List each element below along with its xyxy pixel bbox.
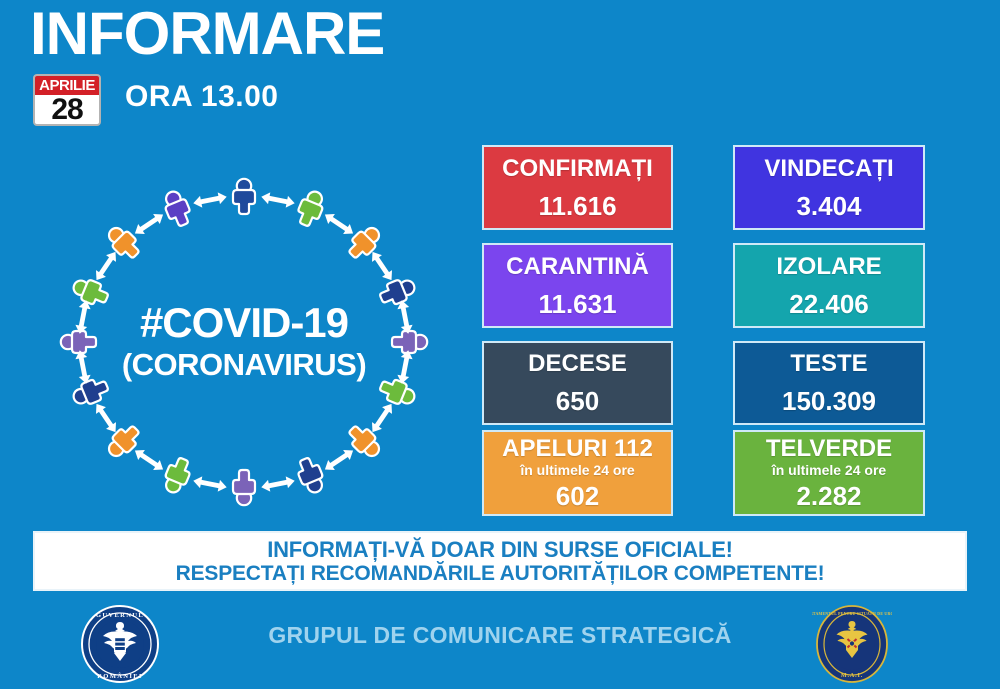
stat-card-carantina: CARANTINĂ 11.631 xyxy=(482,243,673,328)
stat-label: TELVERDE xyxy=(766,435,892,463)
stat-label: IZOLARE xyxy=(776,253,881,281)
stat-card-decese: DECESE 650 xyxy=(482,341,673,425)
stat-value: 11.631 xyxy=(538,289,616,319)
advisory-line-1: INFORMAȚI-VĂ DOAR DIN SURSE OFICIALE! xyxy=(267,537,733,562)
stat-label: VINDECAȚI xyxy=(764,155,893,183)
calendar-day: 28 xyxy=(35,95,99,124)
stat-label: TESTE xyxy=(790,350,867,378)
stat-value: 150.309 xyxy=(782,386,876,416)
stat-card-izolare: IZOLARE 22.406 xyxy=(733,243,925,328)
advisory-line-2: RESPECTAȚI RECOMANDĂRILE AUTORITĂȚILOR C… xyxy=(176,562,825,586)
stat-card-vindecati: VINDECAȚI 3.404 xyxy=(733,145,925,230)
stat-label: DECESE xyxy=(528,350,627,378)
stat-card-teste: TESTE 150.309 xyxy=(733,341,925,425)
stat-value: 650 xyxy=(556,386,599,416)
covid-main-label: #COVID-19 xyxy=(24,300,464,346)
stat-label: CARANTINĂ xyxy=(506,253,649,281)
seal-text-bottom: ROMÂNIEI xyxy=(97,672,143,680)
report-time: ORA 13.00 xyxy=(125,80,278,114)
stat-sublabel: în ultimele 24 ore xyxy=(520,462,634,478)
stat-value: 602 xyxy=(556,481,599,511)
stat-value: 3.404 xyxy=(796,191,861,221)
page-title: INFORMARE xyxy=(30,2,384,65)
stat-value: 11.616 xyxy=(538,191,616,221)
stat-card-apeluri-112: APELURI 112 în ultimele 24 ore 602 xyxy=(482,430,673,516)
stat-label: CONFIRMAȚI xyxy=(502,155,653,183)
stat-card-telverde: TELVERDE în ultimele 24 ore 2.282 xyxy=(733,430,925,516)
stat-card-confirmati: CONFIRMAȚI 11.616 xyxy=(482,145,673,230)
infographic-root: INFORMARE APRILIE 28 ORA 13.00 xyxy=(0,0,1000,688)
covid-circle-graphic: #COVID-19 (CORONAVIRUS) xyxy=(24,170,464,515)
seal-text-bottom: M.A.I. xyxy=(841,673,863,679)
covid-label-group: #COVID-19 (CORONAVIRUS) xyxy=(24,300,464,384)
covid-sub-label: (CORONAVIRUS) xyxy=(24,346,464,384)
stat-value: 2.282 xyxy=(796,481,861,511)
seal-text-top: GUVERNUL xyxy=(96,612,144,619)
seal-text-top: DEPARTAMENTUL PENTRU SITUATII DE URGENTA xyxy=(812,612,892,616)
stat-sublabel: în ultimele 24 ore xyxy=(772,462,886,478)
stat-label: APELURI 112 xyxy=(502,435,653,463)
calendar-icon: APRILIE 28 xyxy=(33,74,101,126)
stat-value: 22.406 xyxy=(789,289,869,319)
advisory-banner: INFORMAȚI-VĂ DOAR DIN SURSE OFICIALE! RE… xyxy=(33,531,967,591)
departamentul-situatii-urgenta-seal-icon: DEPARTAMENTUL PENTRU SITUATII DE URGENTA… xyxy=(812,604,892,684)
